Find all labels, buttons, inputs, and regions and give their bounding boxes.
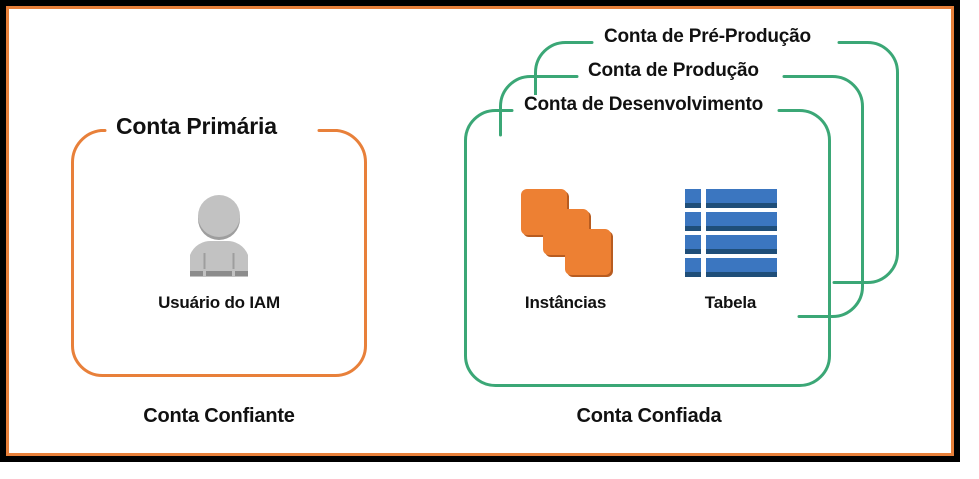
dev-account-body: Instâncias	[464, 109, 831, 387]
diagram-frame-accent: Conta Primária	[6, 6, 954, 456]
iam-user-caption: Usuário do IAM	[158, 293, 280, 313]
diagram-canvas: Conta Primária	[0, 0, 979, 479]
diagram-frame: Conta Primária	[0, 0, 960, 462]
instances-caption: Instâncias	[525, 293, 606, 313]
primary-account-body: Usuário do IAM	[71, 129, 367, 377]
preprod-account-title: Conta de Pré-Produção	[597, 27, 818, 46]
resource-instances: Instâncias	[519, 187, 613, 313]
primary-account-card: Conta Primária	[71, 129, 367, 377]
iam-user-icon	[182, 193, 256, 279]
instances-icon	[519, 187, 613, 279]
dev-account-card: Conta de Desenvolvimento	[464, 109, 831, 387]
trusting-account-footer: Conta Confiante	[9, 405, 429, 428]
table-icon	[685, 187, 777, 279]
prod-account-title: Conta de Produção	[581, 61, 766, 80]
table-caption: Tabela	[705, 293, 756, 313]
trusted-account-footer: Conta Confiada	[449, 405, 849, 428]
resource-table: Tabela	[685, 187, 777, 313]
